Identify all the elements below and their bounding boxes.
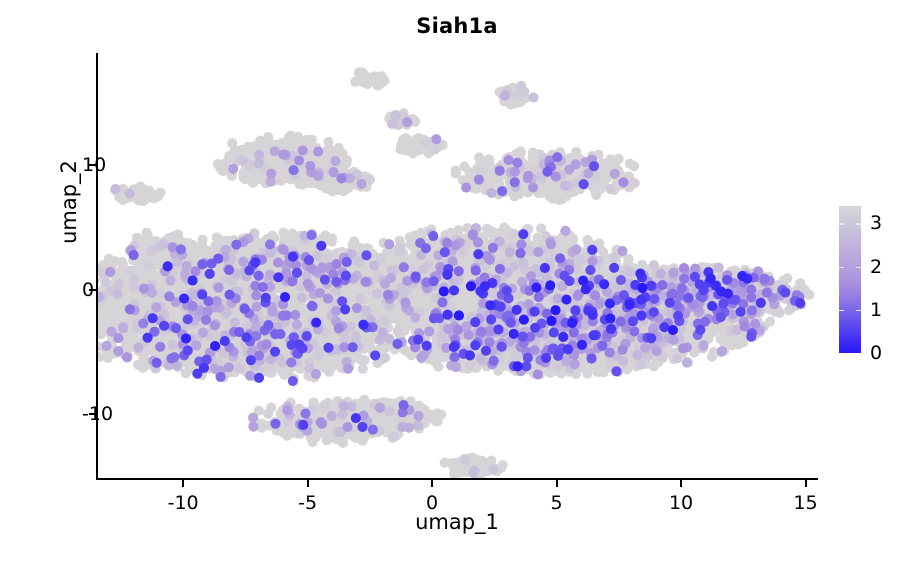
colorbar-tick-label: 1	[870, 299, 882, 321]
umap-feature-plot-figure: Siah1a -10-5051015 100-10 umap_1 umap_2 …	[0, 0, 911, 562]
colorbar-gradient	[839, 206, 861, 353]
colorbar-tick-mark	[856, 223, 861, 225]
x-axis-spine	[96, 478, 818, 480]
colorbar-tick-mark	[856, 267, 861, 269]
x-tick-mark	[556, 480, 558, 487]
colorbar-tick-mark	[839, 267, 844, 269]
colorbar-tick-mark	[839, 310, 844, 312]
colorbar	[839, 206, 861, 353]
page-title: Siah1a	[96, 14, 818, 38]
colorbar-tick-mark	[856, 310, 861, 312]
x-tick-mark	[307, 480, 309, 487]
colorbar-tick-label: 0	[870, 342, 882, 364]
x-tick-mark	[680, 480, 682, 487]
x-tick-mark	[431, 480, 433, 487]
x-tick-mark	[182, 480, 184, 487]
colorbar-tick-label: 3	[870, 212, 882, 234]
x-axis-label: umap_1	[96, 510, 818, 534]
colorbar-tick-mark	[839, 223, 844, 225]
x-tick-mark	[805, 480, 807, 487]
plot-axes: -10-5051015 100-10	[96, 53, 818, 480]
colorbar-tick-label: 2	[870, 256, 882, 278]
scatter-points-layer	[96, 53, 818, 480]
y-axis-label: umap_2	[57, 122, 81, 282]
